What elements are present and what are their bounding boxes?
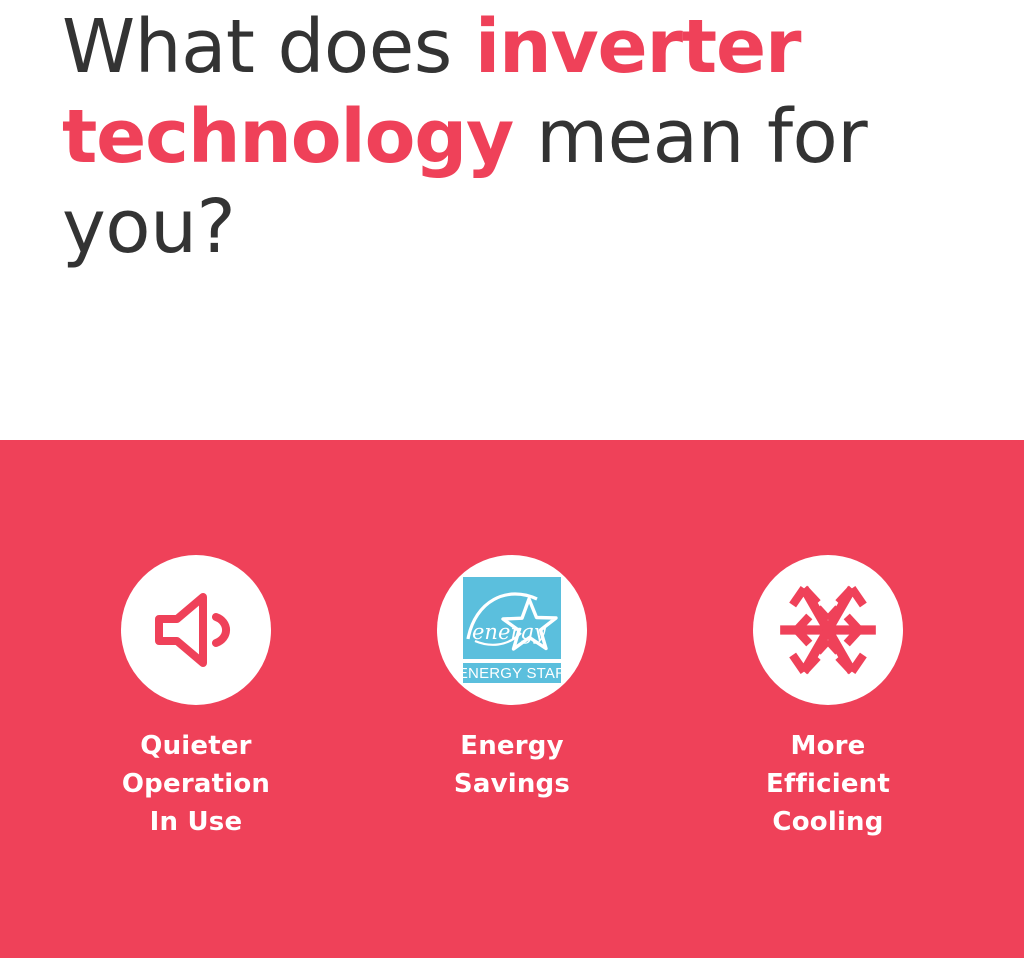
benefit-label: Energy Savings [454,727,570,803]
headline-part-accent-2: technology [62,94,513,180]
benefit-item-efficient-cooling: More Efficient Cooling [670,555,986,841]
snowflake-icon [776,578,880,682]
headline-part-plain-2: mean [513,94,744,180]
benefit-item-energy-savings: energy ENERGY STAR Energy Savings [354,555,670,803]
benefit-icon-badge: energy ENERGY STAR [437,555,587,705]
benefits-row: Quieter Operation In Use energy [0,440,1024,958]
energy-star-logo-icon: energy ENERGY STAR [463,577,561,683]
benefit-item-quieter-operation: Quieter Operation In Use [38,555,354,841]
page-title: What does inverter technology mean for y… [62,0,992,272]
benefit-label: More Efficient Cooling [766,727,890,841]
headline-part-plain-1: What does [62,4,475,90]
benefit-icon-badge [753,555,903,705]
benefit-icon-badge [121,555,271,705]
benefit-label: Quieter Operation In Use [122,727,270,841]
benefits-section: Quieter Operation In Use energy [0,440,1024,958]
speaker-volume-icon [153,592,239,668]
infographic-page: What does inverter technology mean for y… [0,0,1024,958]
headline-section: What does inverter technology mean for y… [0,0,1024,440]
headline-part-accent-1: inverter [475,4,800,90]
energy-star-wordmark: ENERGY STAR [463,665,561,682]
